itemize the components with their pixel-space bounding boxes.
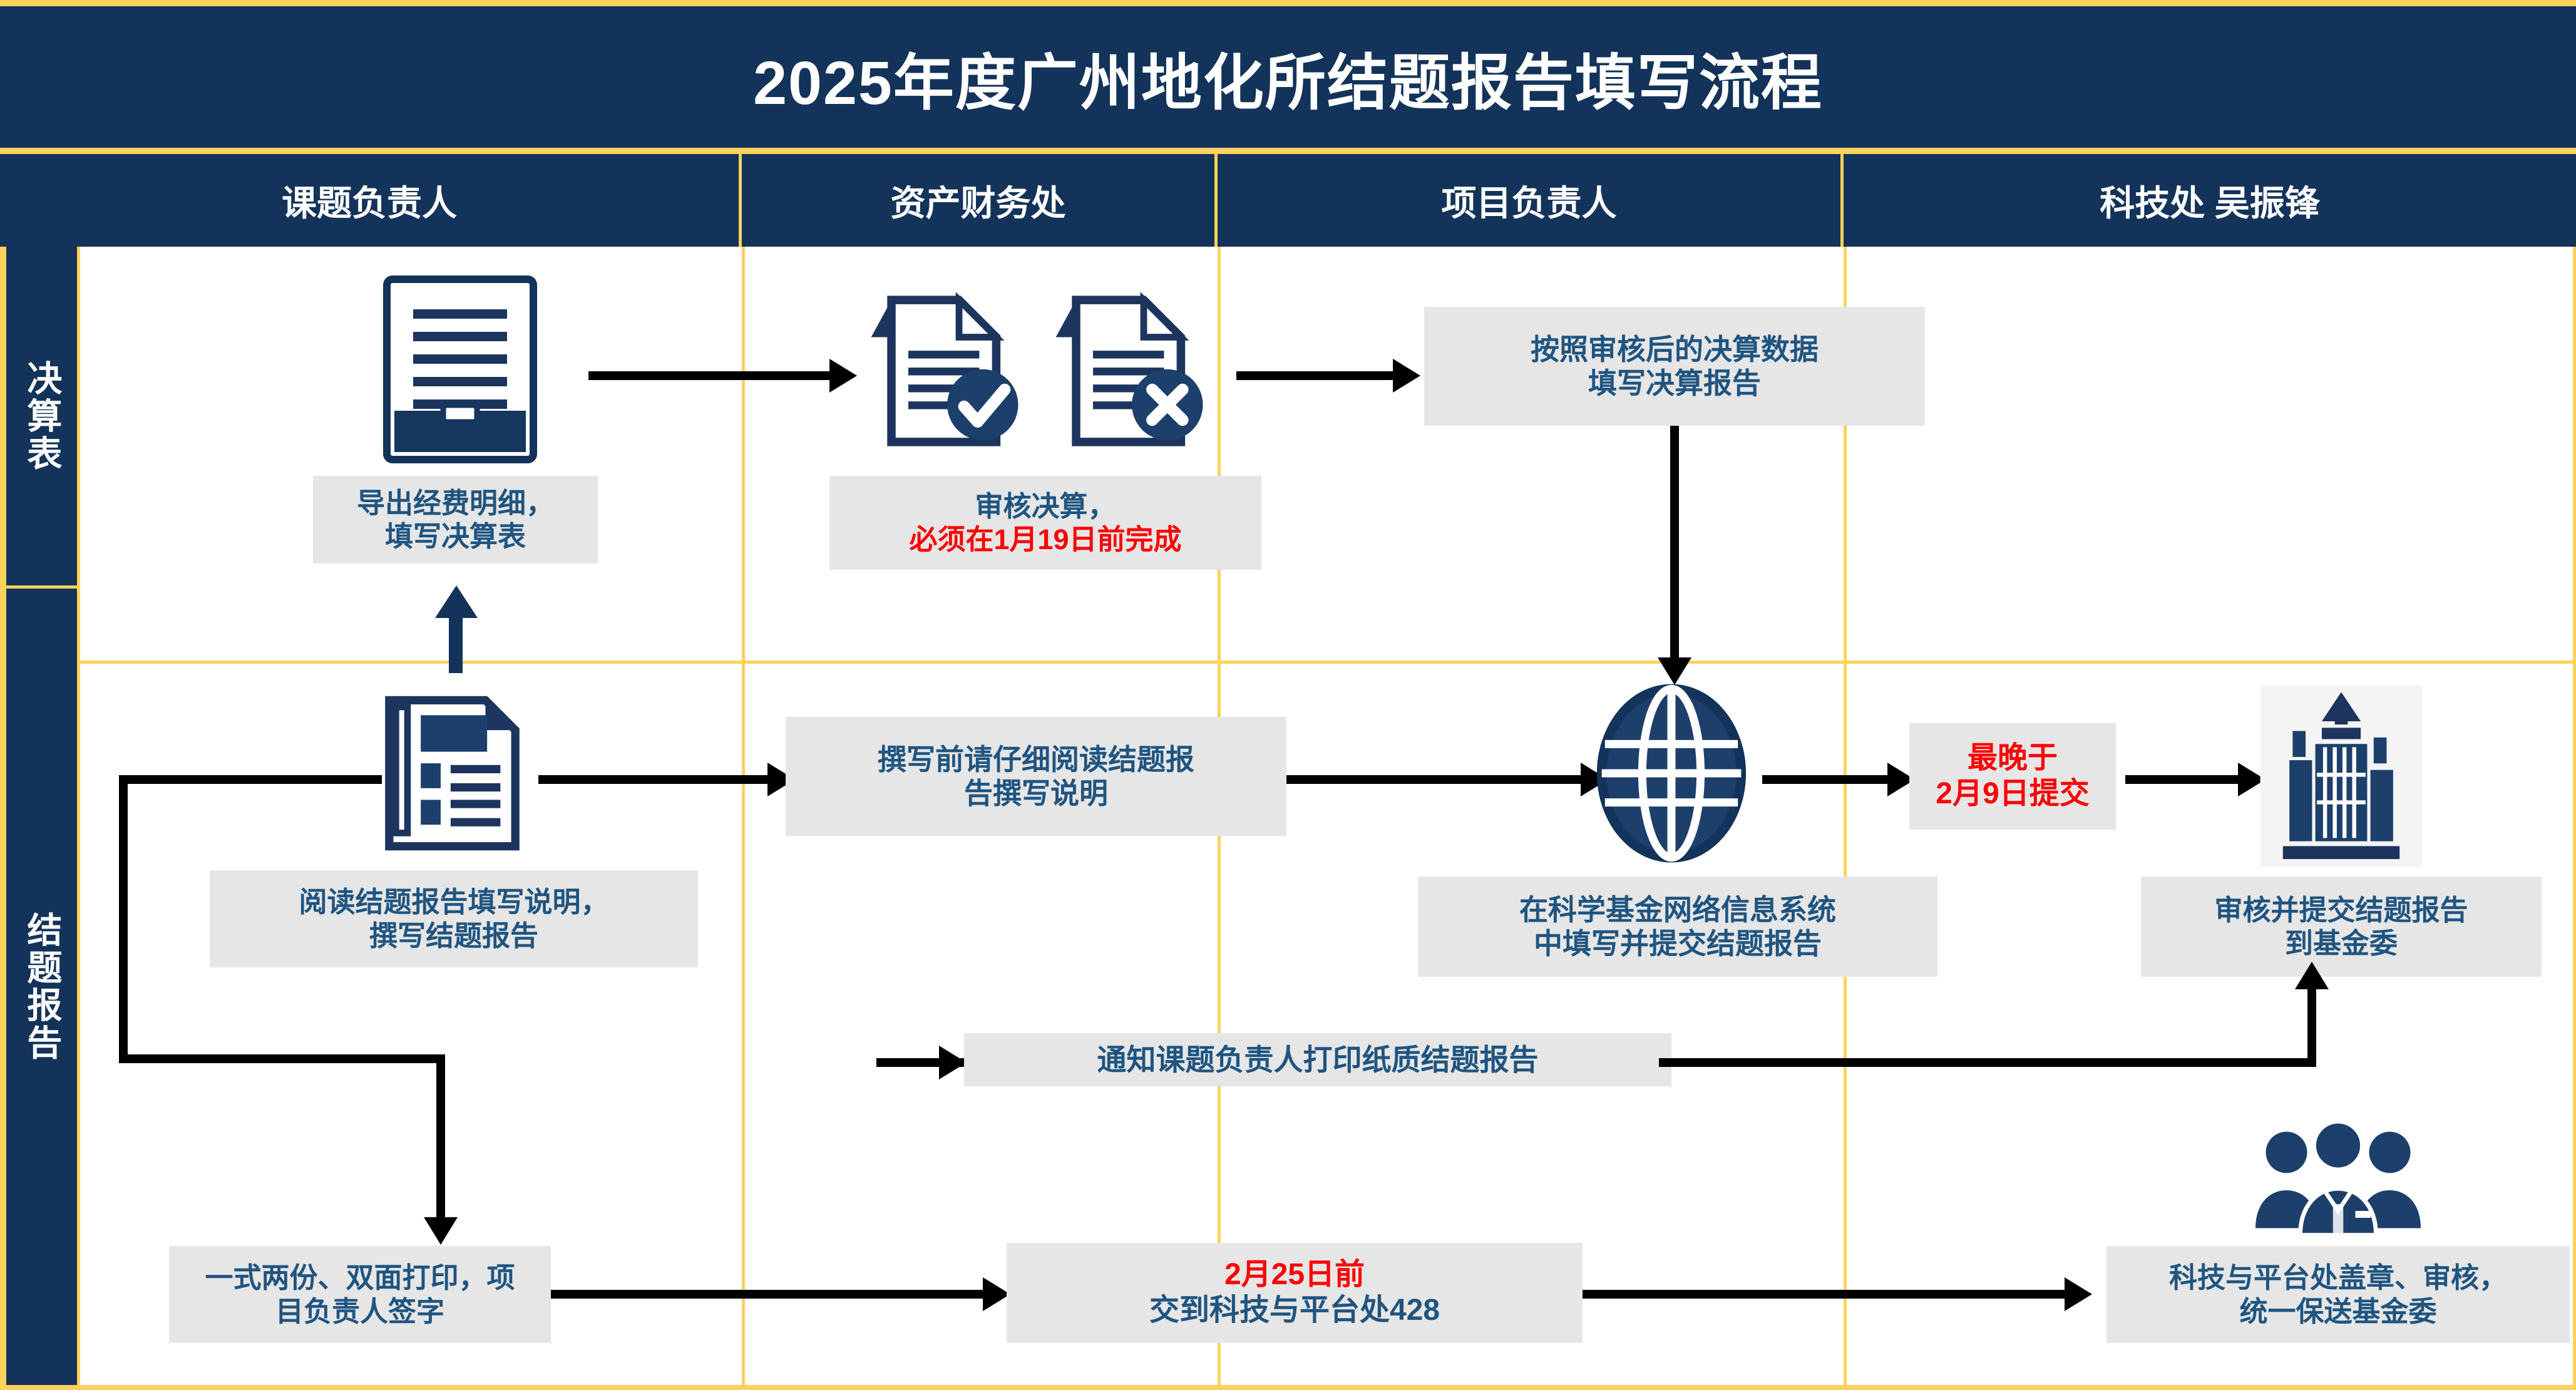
arrowhead-fillreport-to-globe xyxy=(1658,657,1691,685)
node-online-submit-line1: 在科学基金网络信息系统 xyxy=(1519,893,1836,927)
row-label-text-2: 结题报告 xyxy=(23,912,60,1062)
arrowhead-down-to-print xyxy=(424,1217,458,1245)
node-read-instructions-line1: 阅读结题报告填写说明， xyxy=(299,885,608,919)
arrow-notify-to-building xyxy=(1659,1058,2316,1067)
node-stamp-review[interactable]: 科技与平台处盖章、审核， 统一保送基金委 xyxy=(2106,1246,2570,1343)
arrow-print-to-deliver xyxy=(551,1290,983,1299)
page-title: 2025年度广州地化所结题报告填写流程 xyxy=(753,33,1823,121)
node-read-before-write-line1: 撰写前请仔细阅读结题报 xyxy=(878,743,1194,776)
node-review-submit-fund-line2: 到基金委 xyxy=(2214,927,2468,960)
grid-right-border xyxy=(2573,247,2576,1390)
column-header-finance: 资产财务处 xyxy=(742,154,1218,247)
node-notify-print[interactable]: 通知课题负责人打印纸质结题报告 xyxy=(964,1033,1671,1086)
loop-left-bottom xyxy=(119,1054,444,1063)
chart-title-bar: 2025年度广州地化所结题报告填写流程 xyxy=(0,0,2576,154)
loop-left-top-in xyxy=(119,775,382,784)
node-review-submit-fund-line1: 审核并提交结题报告 xyxy=(2214,893,2468,927)
node-online-submit-line2: 中填写并提交结题报告 xyxy=(1519,927,1836,960)
node-deliver-428-line1: 2月25日前 xyxy=(1149,1257,1440,1293)
arrow-reportdoc-to-read xyxy=(538,775,789,784)
node-read-before-write-line2: 告撰写说明 xyxy=(878,776,1194,810)
column-header-row: 课题负责人 资产财务处 项目负责人 科技处 吴振锋 xyxy=(0,154,2576,247)
node-stamp-review-line1: 科技与平台处盖章、审核， xyxy=(2169,1261,2507,1294)
arrowhead-report-to-export xyxy=(435,585,478,618)
building-icon xyxy=(2260,686,2423,867)
node-audit-budget[interactable]: 审核决算， 必须在1月19日前完成 xyxy=(829,476,1261,570)
row-label-settlement-table: 决算表 xyxy=(0,247,80,589)
node-notify-print-line1: 通知课题负责人打印纸质结题报告 xyxy=(1097,1042,1539,1077)
loop-down-to-print xyxy=(436,1054,445,1217)
node-audit-budget-line1: 审核决算， xyxy=(909,490,1181,523)
row-label-final-report: 结题报告 xyxy=(0,589,80,1385)
node-print-two-copies[interactable]: 一式两份、双面打印，项 目负责人签字 xyxy=(169,1246,551,1343)
node-online-submit[interactable]: 在科学基金网络信息系统 中填写并提交结题报告 xyxy=(1418,877,1937,977)
node-read-instructions[interactable]: 阅读结题报告填写说明， 撰写结题报告 xyxy=(210,870,698,967)
arrowhead-to-notify-print xyxy=(939,1046,967,1079)
arrowhead-clipboard-to-audit xyxy=(829,359,857,393)
node-fill-budget-report[interactable]: 按照审核后的决算数据 填写决算报告 xyxy=(1424,307,1925,426)
row-label-text-1: 决算表 xyxy=(23,360,60,473)
arrow-report-to-export xyxy=(449,617,463,673)
arrowhead-notify-to-building xyxy=(2295,962,2329,989)
node-deadline-feb9-line1: 最晚于 xyxy=(1936,741,2089,776)
loop-left-vertical xyxy=(119,775,128,1063)
arrow-audit-to-fillreport xyxy=(1236,371,1393,380)
arrowhead-deliver-to-stamp xyxy=(2065,1277,2092,1311)
node-deadline-feb9[interactable]: 最晚于 2月9日提交 xyxy=(1909,723,2116,830)
node-read-before-write[interactable]: 撰写前请仔细阅读结题报 告撰写说明 xyxy=(786,717,1286,836)
arrow-globe-to-deadline xyxy=(1762,775,1887,784)
node-export-budget[interactable]: 导出经费明细， 填写决算表 xyxy=(313,476,598,564)
node-export-budget-line1: 导出经费明细， xyxy=(357,487,554,520)
node-export-budget-line2: 填写决算表 xyxy=(357,520,554,553)
column-header-sci-tech: 科技处 吴振锋 xyxy=(1844,154,2576,247)
grid-bottom-border xyxy=(0,1385,2576,1390)
column-header-project-leader: 项目负责人 xyxy=(1218,154,1844,247)
arrowhead-audit-to-fillreport xyxy=(1393,359,1420,393)
column-header-task-leader: 课题负责人 xyxy=(0,154,742,247)
node-print-two-copies-line2: 目负责人签字 xyxy=(205,1295,515,1328)
node-fill-budget-report-line2: 填写决算报告 xyxy=(1531,366,1819,400)
arrow-fillreport-to-globe xyxy=(1670,426,1679,657)
document-check-icon xyxy=(858,285,1027,457)
clipboard-icon xyxy=(376,275,545,463)
report-document-icon xyxy=(369,686,535,861)
grid-vline-1 xyxy=(742,247,745,1390)
node-read-instructions-line2: 撰写结题报告 xyxy=(299,919,608,952)
node-stamp-review-line2: 统一保送基金委 xyxy=(2169,1295,2507,1328)
document-cross-icon xyxy=(1042,285,1211,457)
node-print-two-copies-line1: 一式两份、双面打印，项 xyxy=(205,1261,515,1294)
node-deadline-feb9-line2: 2月9日提交 xyxy=(1936,776,2089,812)
arrow-notify-up-riser xyxy=(2307,989,2316,1062)
node-audit-budget-line2: 必须在1月19日前完成 xyxy=(909,523,1181,556)
node-fill-budget-report-line1: 按照审核后的决算数据 xyxy=(1531,332,1819,366)
node-review-submit-fund[interactable]: 审核并提交结题报告 到基金委 xyxy=(2141,877,2542,977)
arrow-read-to-globe xyxy=(1286,775,1581,784)
team-icon xyxy=(2235,1121,2441,1246)
arrow-clipboard-to-audit xyxy=(588,371,829,380)
node-deliver-428[interactable]: 2月25日前 交到科技与平台处428 xyxy=(1007,1243,1583,1343)
arrow-deliver-to-stamp xyxy=(1583,1290,2065,1299)
globe-icon xyxy=(1590,682,1753,864)
flowchart-canvas: 2025年度广州地化所结题报告填写流程 课题负责人 资产财务处 项目负责人 科技… xyxy=(0,0,2576,1390)
arrow-deadline-to-building xyxy=(2125,775,2238,784)
node-deliver-428-line2: 交到科技与平台处428 xyxy=(1149,1293,1440,1329)
